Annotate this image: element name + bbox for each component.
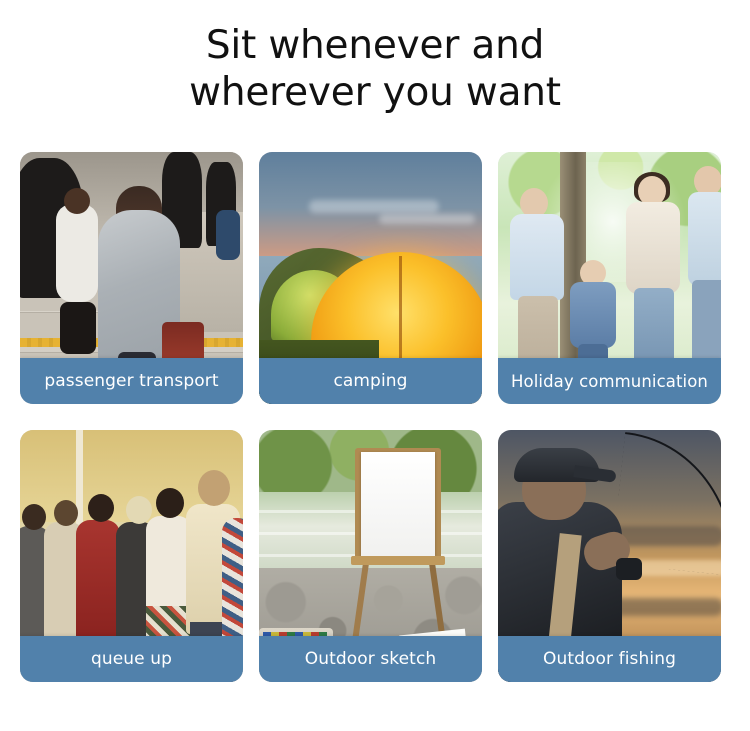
scenario-card-outdoor-sketch[interactable]: Outdoor sketch — [259, 430, 482, 682]
scenario-card-passenger-transport[interactable]: passenger transport — [20, 152, 243, 404]
card-caption: camping — [259, 358, 482, 404]
page-title-line-1: Sit whenever and — [0, 22, 750, 69]
scenario-card-outdoor-fishing[interactable]: Outdoor fishing — [498, 430, 721, 682]
page-title-line-2: wherever you want — [0, 69, 750, 116]
scenario-card-queue-up[interactable]: queue up — [20, 430, 243, 682]
scenario-card-camping[interactable]: camping — [259, 152, 482, 404]
page-title: Sit whenever and wherever you want — [0, 0, 750, 116]
scenario-grid: passenger transport camping — [20, 152, 730, 682]
card-caption: Outdoor sketch — [259, 636, 482, 682]
scenario-card-holiday-communication[interactable]: Holiday communication — [498, 152, 721, 404]
card-caption: Outdoor fishing — [498, 636, 721, 682]
card-caption: Holiday communication — [498, 358, 721, 404]
card-caption: queue up — [20, 636, 243, 682]
promo-page: Sit whenever and wherever you want — [0, 0, 750, 731]
card-caption: passenger transport — [20, 358, 243, 404]
